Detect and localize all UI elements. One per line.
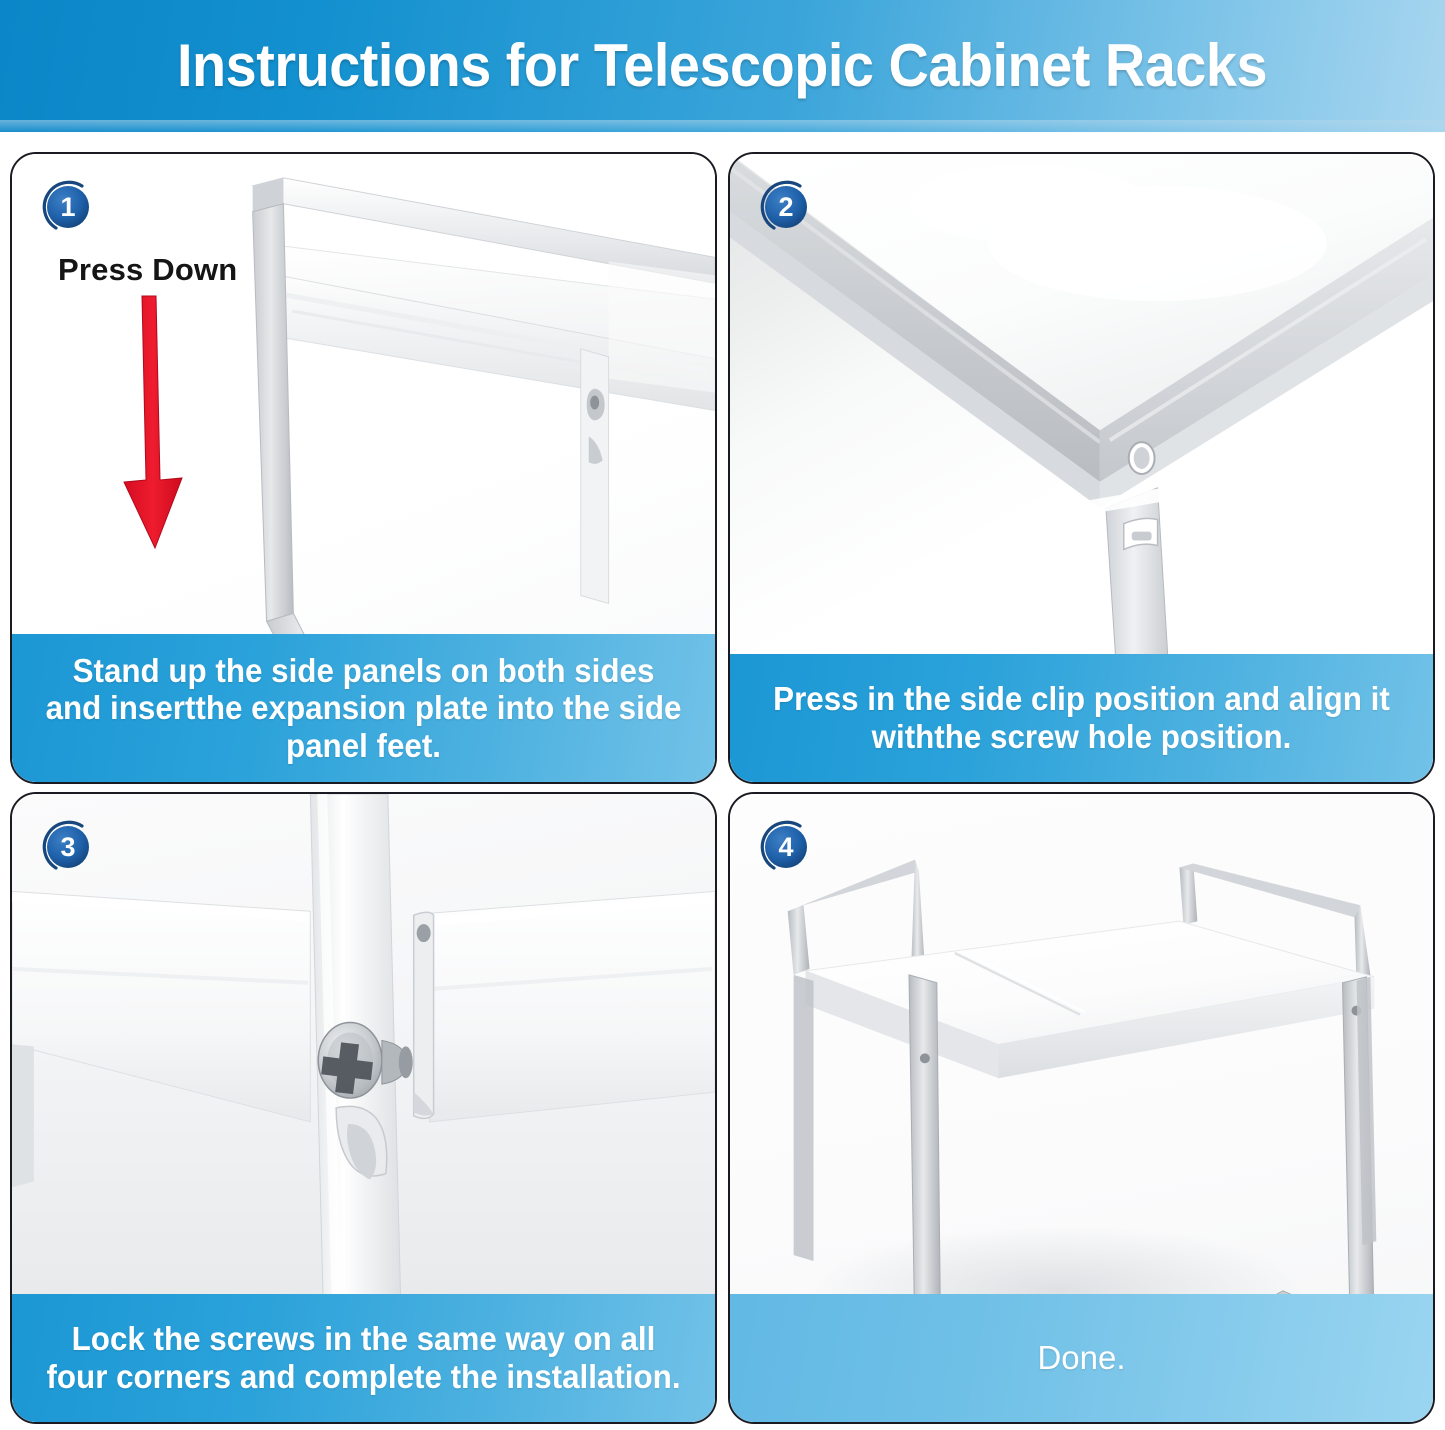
- badge-circle-icon: 1: [34, 176, 96, 238]
- steps-grid: 1 Press Down Stand up the side panels on…: [10, 152, 1435, 1424]
- step-panel-2: 2 Press in the side clip position and al…: [728, 152, 1435, 784]
- step-2-caption: Press in the side clip position and alig…: [730, 654, 1433, 782]
- step-panel-3: 3 Lock the screws in the same way on all…: [10, 792, 717, 1424]
- step-badge-4: 4: [752, 816, 814, 878]
- step-panel-4: 4 Done.: [728, 792, 1435, 1424]
- step-4-caption-text: Done.: [1037, 1339, 1125, 1377]
- step-badge-2: 2: [752, 176, 814, 238]
- badge-circle-icon: 3: [34, 816, 96, 878]
- step-number-4: 4: [778, 832, 793, 862]
- press-down-label: Press Down: [58, 252, 237, 288]
- step-1-caption: Stand up the side panels on both sides a…: [12, 634, 715, 782]
- step-number-2: 2: [778, 192, 793, 222]
- step-2-caption-text: Press in the side clip position and alig…: [763, 680, 1400, 755]
- badge-circle-icon: 4: [752, 816, 814, 878]
- step-number-1: 1: [60, 192, 75, 222]
- step-3-caption-text: Lock the screws in the same way on all f…: [45, 1320, 682, 1395]
- badge-circle-icon: 2: [752, 176, 814, 238]
- page-header: Instructions for Telescopic Cabinet Rack…: [0, 0, 1445, 132]
- step-panel-1: 1 Press Down Stand up the side panels on…: [10, 152, 717, 784]
- step-1-caption-text: Stand up the side panels on both sides a…: [45, 652, 682, 765]
- step-badge-3: 3: [34, 816, 96, 878]
- step-3-caption: Lock the screws in the same way on all f…: [12, 1294, 715, 1422]
- page-title: Instructions for Telescopic Cabinet Rack…: [178, 36, 1268, 96]
- step-number-3: 3: [60, 832, 75, 862]
- step-4-caption: Done.: [730, 1294, 1433, 1422]
- down-arrow-icon: [108, 292, 218, 552]
- step-badge-1: 1: [34, 176, 96, 238]
